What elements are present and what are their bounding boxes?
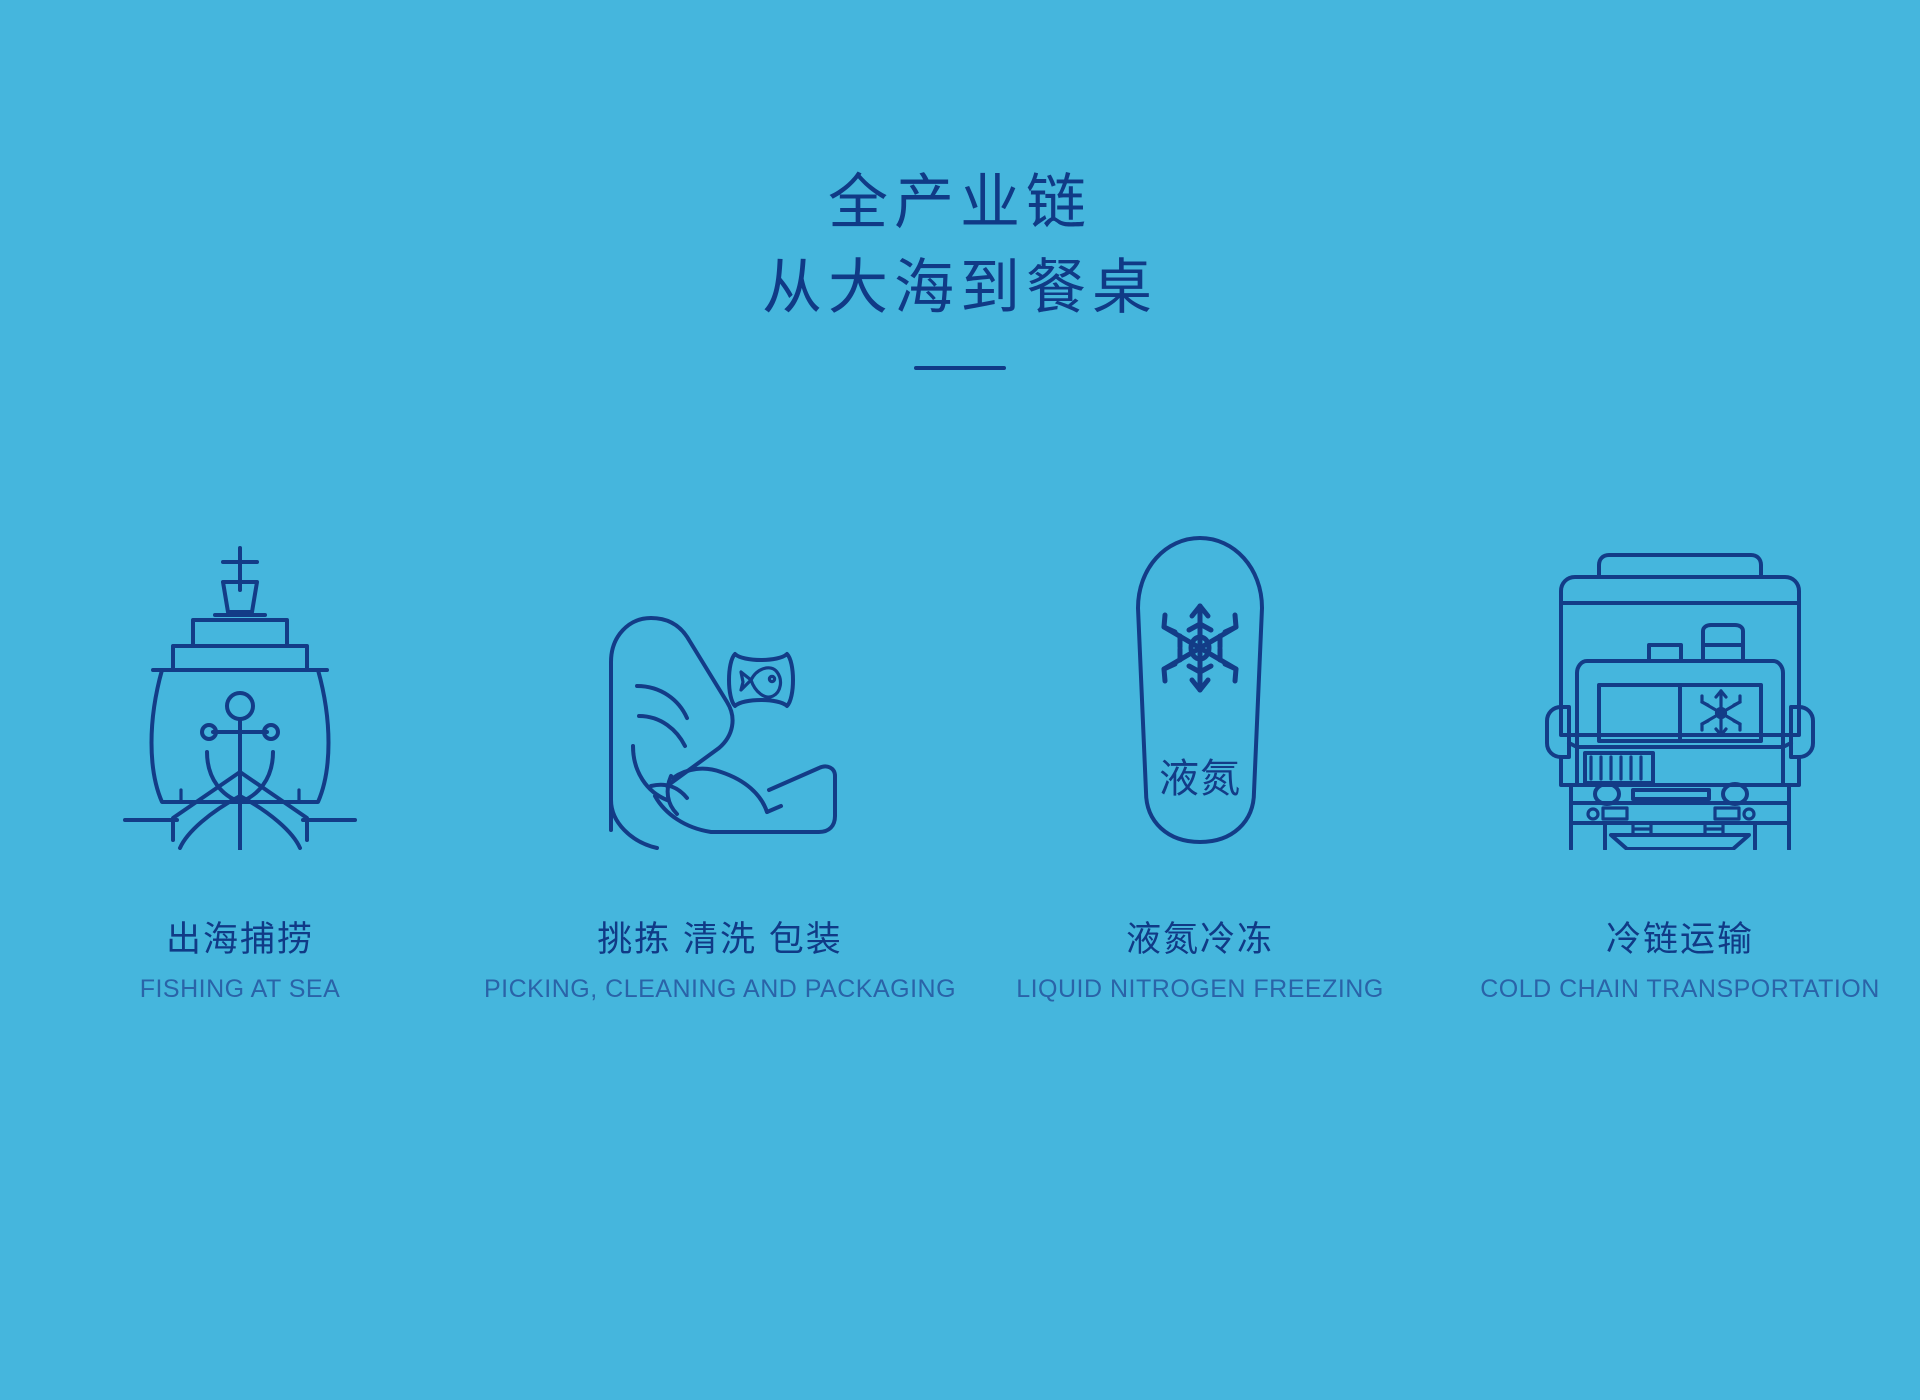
page-title-line-2: 从大海到餐桌 xyxy=(0,245,1920,330)
step-labels: 液氮冷冻 LIQUID NITROGEN FREEZING xyxy=(1016,916,1384,1004)
step-labels: 挑拣 清洗 包装 PICKING, CLEANING AND PACKAGING xyxy=(484,916,956,1004)
step-label-en: FISHING AT SEA xyxy=(140,975,341,1004)
process-steps-row: 出海捕捞 FISHING AT SEA xyxy=(0,520,1920,1140)
step-liquid-nitrogen-freezing[interactable]: 液氮 液氮冷冻 LIQUID NITROGEN FREEZING xyxy=(960,520,1440,1004)
step-cold-chain-transportation[interactable]: 冷链运输 COLD CHAIN TRANSPORTATION xyxy=(1440,520,1920,1004)
step-label-en: COLD CHAIN TRANSPORTATION xyxy=(1480,975,1880,1004)
step-label-en: LIQUID NITROGEN FREEZING xyxy=(1016,975,1384,1004)
title-divider xyxy=(914,366,1006,370)
step-label-cn: 冷链运输 xyxy=(1480,916,1880,963)
step-label-en: PICKING, CLEANING AND PACKAGING xyxy=(484,975,956,1004)
step-label-cn: 出海捕捞 xyxy=(140,916,341,963)
step-labels: 出海捕捞 FISHING AT SEA xyxy=(140,916,341,1004)
step-label-cn: 液氮冷冻 xyxy=(1016,916,1384,963)
refrigerated-truck-icon xyxy=(1545,520,1815,850)
page-title-line-1: 全产业链 xyxy=(0,160,1920,245)
step-label-cn: 挑拣 清洗 包装 xyxy=(484,916,956,963)
hands-fish-package-icon xyxy=(575,520,865,850)
page-title-block: 全产业链 从大海到餐桌 xyxy=(0,160,1920,370)
tank-label: 液氮 xyxy=(1159,757,1241,801)
liquid-nitrogen-tank-icon: 液氮 xyxy=(1120,520,1280,850)
fishing-boat-icon xyxy=(115,520,365,850)
step-labels: 冷链运输 COLD CHAIN TRANSPORTATION xyxy=(1480,916,1880,1004)
step-picking-cleaning-packaging[interactable]: 挑拣 清洗 包装 PICKING, CLEANING AND PACKAGING xyxy=(480,520,960,1004)
step-fishing-at-sea[interactable]: 出海捕捞 FISHING AT SEA xyxy=(0,520,480,1004)
